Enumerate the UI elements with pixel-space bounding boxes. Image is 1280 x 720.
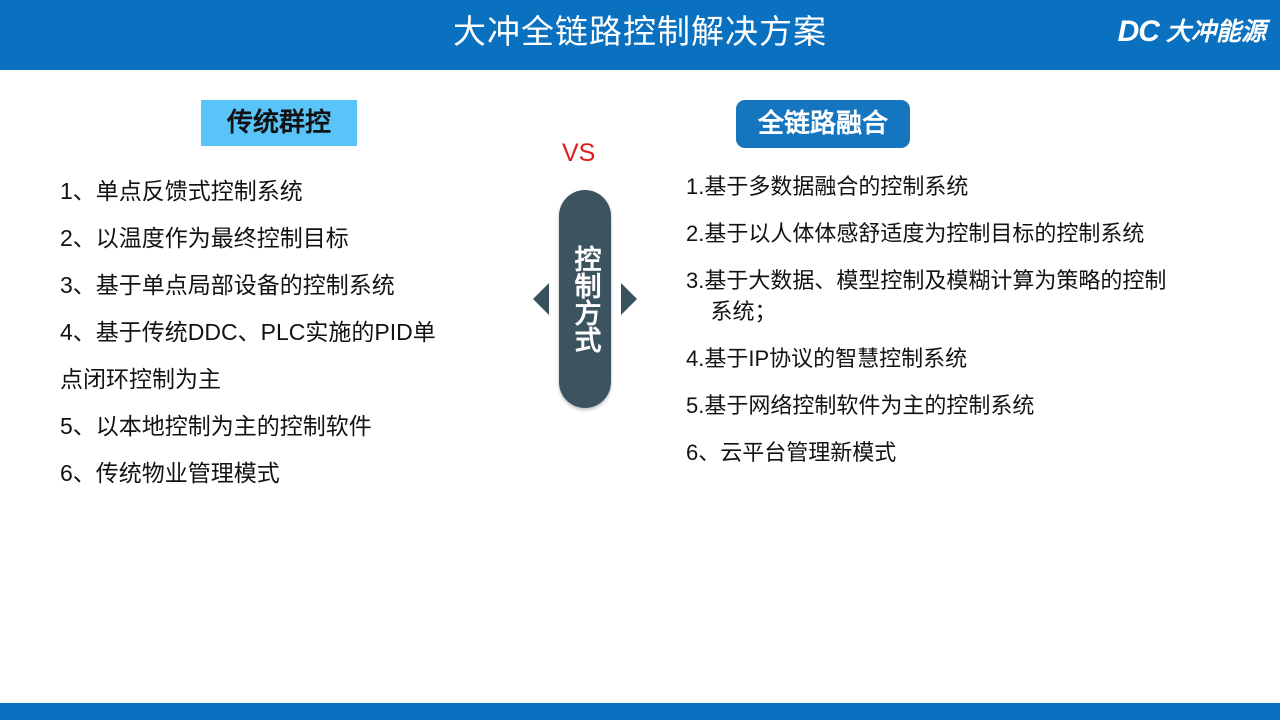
fusion-badge: 全链路融合 bbox=[736, 100, 910, 148]
list-item: 1、单点反馈式控制系统 bbox=[60, 168, 550, 215]
list-item: 5.基于网络控制软件为主的控制系统 bbox=[686, 390, 1280, 421]
legacy-badge: 传统群控 bbox=[201, 100, 357, 146]
list-item: 3.基于大数据、模型控制及模糊计算为策略的控制 系统； bbox=[686, 265, 1280, 327]
legacy-column: 传统群控 1、单点反馈式控制系统 2、以温度作为最终控制目标 3、基于单点局部设… bbox=[60, 100, 550, 497]
list-item: 1.基于多数据融合的控制系统 bbox=[686, 171, 1280, 202]
list-item: 5、以本地控制为主的控制软件 bbox=[60, 403, 550, 450]
arrow-left-icon bbox=[533, 283, 549, 315]
control-mode-pill-label: 控制方式 bbox=[565, 245, 606, 353]
list-item: 6、传统物业管理模式 bbox=[60, 450, 550, 497]
footer-bar bbox=[0, 703, 1280, 720]
arrow-right-icon bbox=[621, 283, 637, 315]
list-item: 2.基于以人体体感舒适度为控制目标的控制系统 bbox=[686, 218, 1280, 249]
brand-logo: DC 大冲能源 bbox=[1118, 15, 1266, 49]
vs-label: VS bbox=[562, 138, 595, 168]
fusion-list: 1.基于多数据融合的控制系统 2.基于以人体体感舒适度为控制目标的控制系统 3.… bbox=[686, 171, 1280, 468]
page-title: 大冲全链路控制解决方案 bbox=[0, 6, 1280, 58]
list-item: 4、基于传统DDC、PLC实施的PID单 点闭环控制为主 bbox=[60, 309, 550, 403]
list-item: 2、以温度作为最终控制目标 bbox=[60, 215, 550, 262]
list-item: 4.基于IP协议的智慧控制系统 bbox=[686, 343, 1280, 374]
legacy-list: 1、单点反馈式控制系统 2、以温度作为最终控制目标 3、基于单点局部设备的控制系… bbox=[60, 168, 550, 497]
brand-logo-name: 大冲能源 bbox=[1166, 15, 1266, 49]
list-item: 3、基于单点局部设备的控制系统 bbox=[60, 262, 550, 309]
control-mode-pill: 控制方式 bbox=[559, 190, 611, 408]
header-bar: 大冲全链路控制解决方案 DC 大冲能源 bbox=[0, 0, 1280, 70]
brand-logo-mark: DC bbox=[1118, 15, 1159, 49]
list-item: 6、云平台管理新模式 bbox=[686, 437, 1280, 468]
fusion-column: 全链路融合 1.基于多数据融合的控制系统 2.基于以人体体感舒适度为控制目标的控… bbox=[686, 100, 1280, 484]
comparison-divider: 控制方式 bbox=[525, 190, 645, 415]
